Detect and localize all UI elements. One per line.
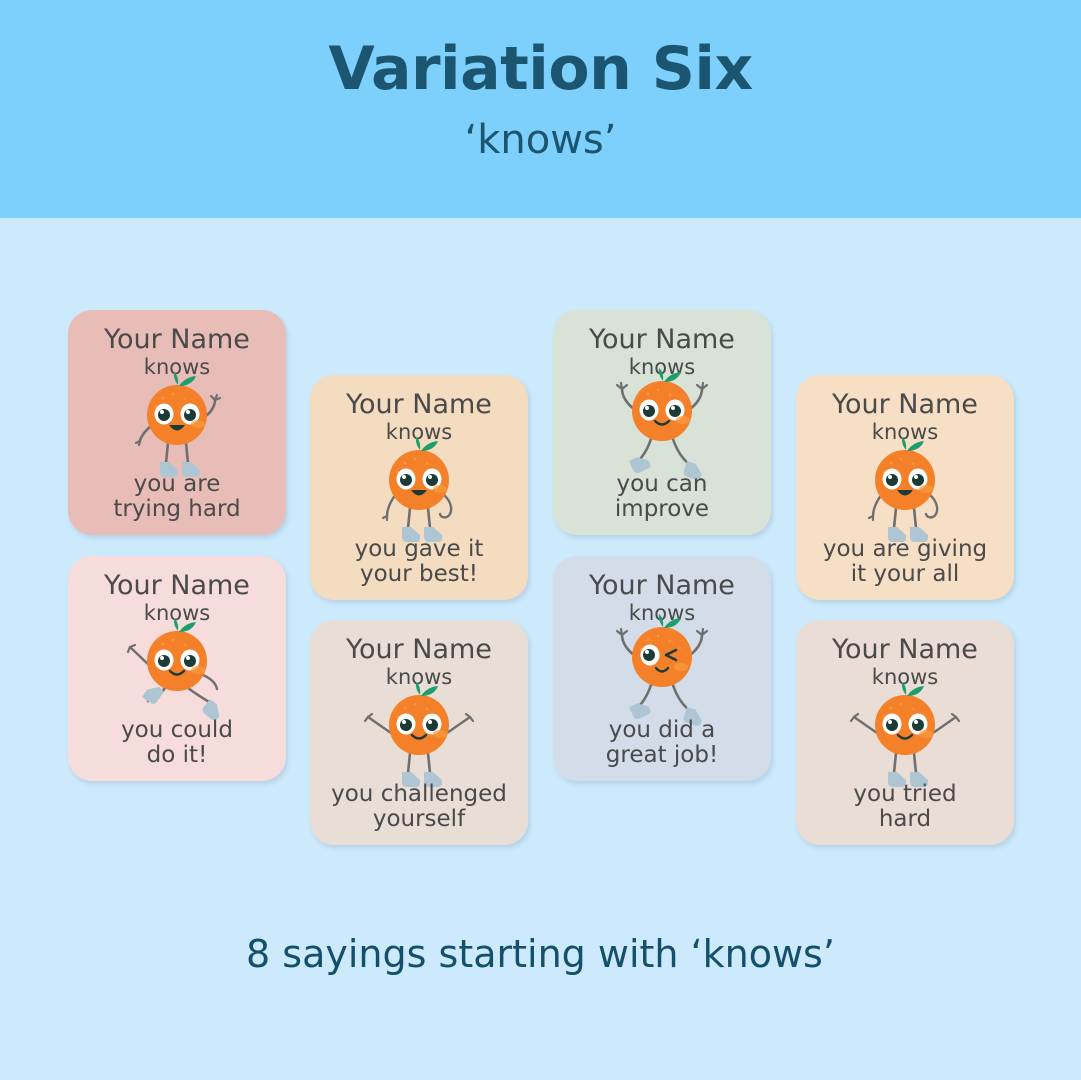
sticker-card[interactable]: Your Nameknows you could do it!	[68, 556, 286, 781]
sticker-name-line: Your Name	[589, 572, 735, 599]
orange-character-icon	[68, 378, 286, 472]
sticker-phrase: you are giving it your all	[815, 537, 995, 587]
footer-caption: 8 sayings starting with ‘knows’	[0, 932, 1081, 976]
sticker-phrase: you challenged yourself	[323, 782, 515, 832]
sticker-name-line: Your Name	[104, 572, 250, 599]
sticker-name-line: Your Name	[589, 326, 735, 353]
sticker-name-line: Your Name	[832, 391, 978, 418]
orange-character-icon	[310, 688, 528, 782]
sticker-phrase: you gave it your best!	[347, 537, 492, 587]
sticker-name-line: Your Name	[346, 391, 492, 418]
sticker-grid: Your Nameknows you are try	[0, 218, 1081, 932]
orange-character-icon	[553, 378, 771, 472]
sticker-name-line: Your Name	[104, 326, 250, 353]
sticker-phrase: you did a great job!	[598, 718, 726, 768]
sticker-card[interactable]: Your Nameknows you are giving it	[796, 375, 1014, 600]
sticker-card[interactable]: Your Nameknows you are try	[68, 310, 286, 535]
sticker-phrase: you can improve	[607, 472, 717, 522]
sticker-name-line: Your Name	[346, 636, 492, 663]
sticker-name-line: Your Name	[832, 636, 978, 663]
orange-character-icon	[796, 688, 1014, 782]
sticker-card[interactable]: Your Nameknows you did a great job!	[553, 556, 771, 781]
header-banner: Variation Six ‘knows’	[0, 0, 1081, 218]
sticker-phrase: you are trying hard	[105, 472, 248, 522]
page-subtitle: ‘knows’	[465, 119, 617, 161]
sticker-phrase: you could do it!	[113, 718, 241, 768]
sticker-card[interactable]: Your Nameknows you gave it your b	[310, 375, 528, 600]
sticker-phrase: you tried hard	[845, 782, 964, 832]
orange-character-icon	[553, 624, 771, 718]
orange-character-icon	[796, 443, 1014, 537]
orange-character-icon	[310, 443, 528, 537]
sticker-card[interactable]: Your Nameknows you can imp	[553, 310, 771, 535]
sticker-card[interactable]: Your Nameknows you tried h	[796, 620, 1014, 845]
orange-character-icon	[68, 624, 286, 718]
page-title: Variation Six	[328, 38, 752, 101]
sticker-card[interactable]: Your Nameknows you challen	[310, 620, 528, 845]
